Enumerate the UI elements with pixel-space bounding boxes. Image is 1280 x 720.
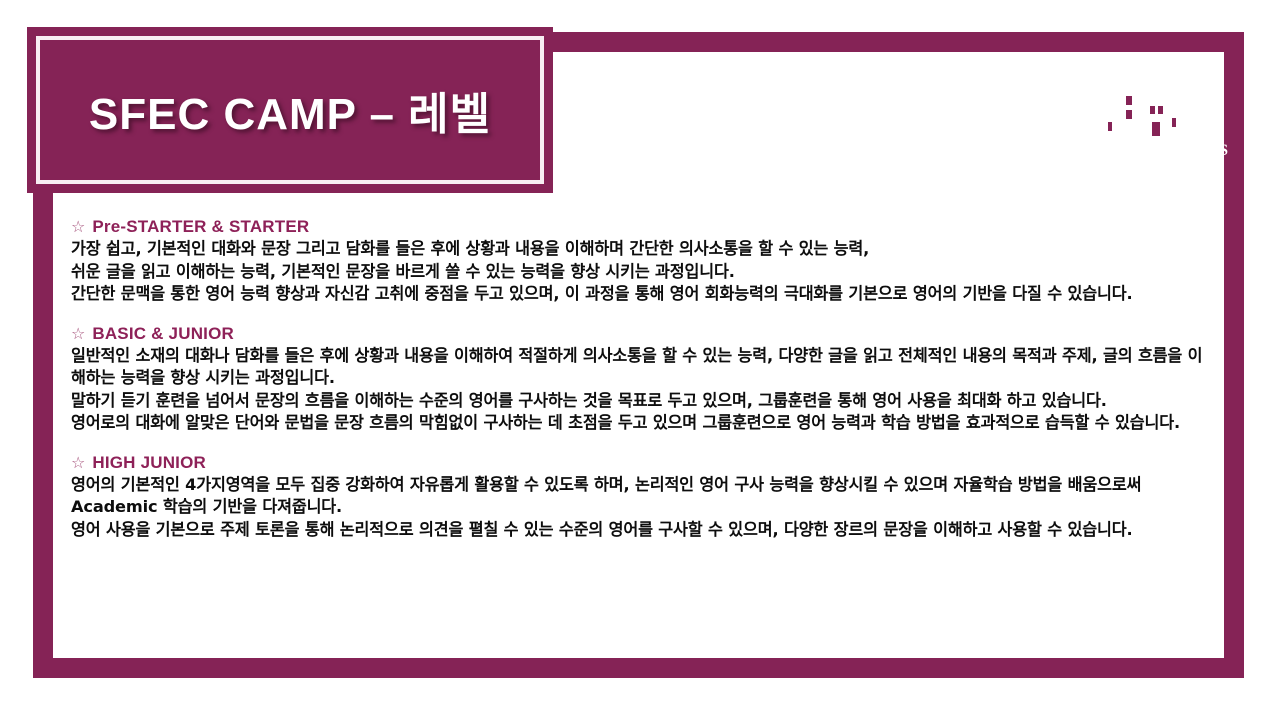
- title-plaque-inner-border: SFEC CAMP – 레벨: [36, 36, 544, 184]
- section-paragraph: 영어의 기본적인 4가지영역을 모두 집중 강화하여 자유롭게 활용할 수 있도…: [71, 474, 1206, 519]
- section-body: 가장 쉽고, 기본적인 대화와 문장 그리고 담화를 들은 후에 상황과 내용을…: [71, 238, 1206, 306]
- section-heading: ☆ BASIC & JUNIOR: [71, 324, 1206, 344]
- level-section-basic-junior: ☆ BASIC & JUNIOR 일반적인 소재의 대화나 담화를 들은 후에 …: [71, 324, 1206, 435]
- level-section-pre-starter-starter: ☆ Pre-STARTER & STARTER 가장 쉽고, 기본적인 대화와 …: [71, 217, 1206, 306]
- section-paragraph: 일반적인 소재의 대화나 담화를 들은 후에 상황과 내용을 이해하여 적절하게…: [71, 345, 1206, 390]
- school-logo: SHATTUCK•ST.MARY'S FOREST CITY INTERNATI…: [1052, 46, 1224, 196]
- section-paragraph: 영어 사용을 기본으로 주제 토론을 통해 논리적으로 의견을 펼칠 수 있는 …: [71, 519, 1206, 542]
- section-heading: ☆ HIGH JUNIOR: [71, 453, 1206, 473]
- star-icon: ☆: [71, 220, 85, 236]
- star-icon: ☆: [71, 456, 85, 472]
- section-heading: ☆ Pre-STARTER & STARTER: [71, 217, 1206, 237]
- slide-canvas: SFEC CAMP – 레벨: [0, 0, 1280, 720]
- title-plaque: SFEC CAMP – 레벨: [27, 27, 553, 193]
- section-heading-label: Pre-STARTER & STARTER: [92, 217, 309, 237]
- frame-right-bar: [1224, 32, 1244, 678]
- section-paragraph: 간단한 문맥을 통한 영어 능력 향상과 자신감 고취에 중점을 두고 있으며,…: [71, 283, 1206, 306]
- level-section-high-junior: ☆ HIGH JUNIOR 영어의 기본적인 4가지영역을 모두 집중 강화하여…: [71, 453, 1206, 542]
- logo-line-2: FOREST CITY: [1084, 159, 1193, 176]
- content-panel: ☆ Pre-STARTER & STARTER 가장 쉽고, 기본적인 대화와 …: [53, 203, 1224, 658]
- section-body: 영어의 기본적인 4가지영역을 모두 집중 강화하여 자유롭게 활용할 수 있도…: [71, 474, 1206, 542]
- section-heading-label: BASIC & JUNIOR: [92, 324, 234, 344]
- logo-line-3: INTERNATIONAL SCHOOL: [1068, 177, 1208, 189]
- logo-line-1: SHATTUCK•ST.MARY'S: [1048, 143, 1229, 159]
- frame-bottom-bar: [33, 658, 1244, 678]
- section-paragraph: 쉬운 글을 읽고 이해하는 능력, 기본적인 문장을 바르게 쓸 수 있는 능력…: [71, 261, 1206, 284]
- arch-campus-crest-icon: [1064, 46, 1212, 142]
- star-icon: ☆: [71, 327, 85, 343]
- section-paragraph: 영어로의 대화에 알맞은 단어와 문법을 문장 흐름의 막힘없이 구사하는 데 …: [71, 412, 1206, 435]
- page-title: SFEC CAMP – 레벨: [89, 78, 491, 142]
- section-paragraph: 가장 쉽고, 기본적인 대화와 문장 그리고 담화를 들은 후에 상황과 내용을…: [71, 238, 1206, 261]
- section-heading-label: HIGH JUNIOR: [92, 453, 206, 473]
- section-body: 일반적인 소재의 대화나 담화를 들은 후에 상황과 내용을 이해하여 적절하게…: [71, 345, 1206, 435]
- section-paragraph: 말하기 듣기 훈련을 넘어서 문장의 흐름을 이해하는 수준의 영어를 구사하는…: [71, 390, 1206, 413]
